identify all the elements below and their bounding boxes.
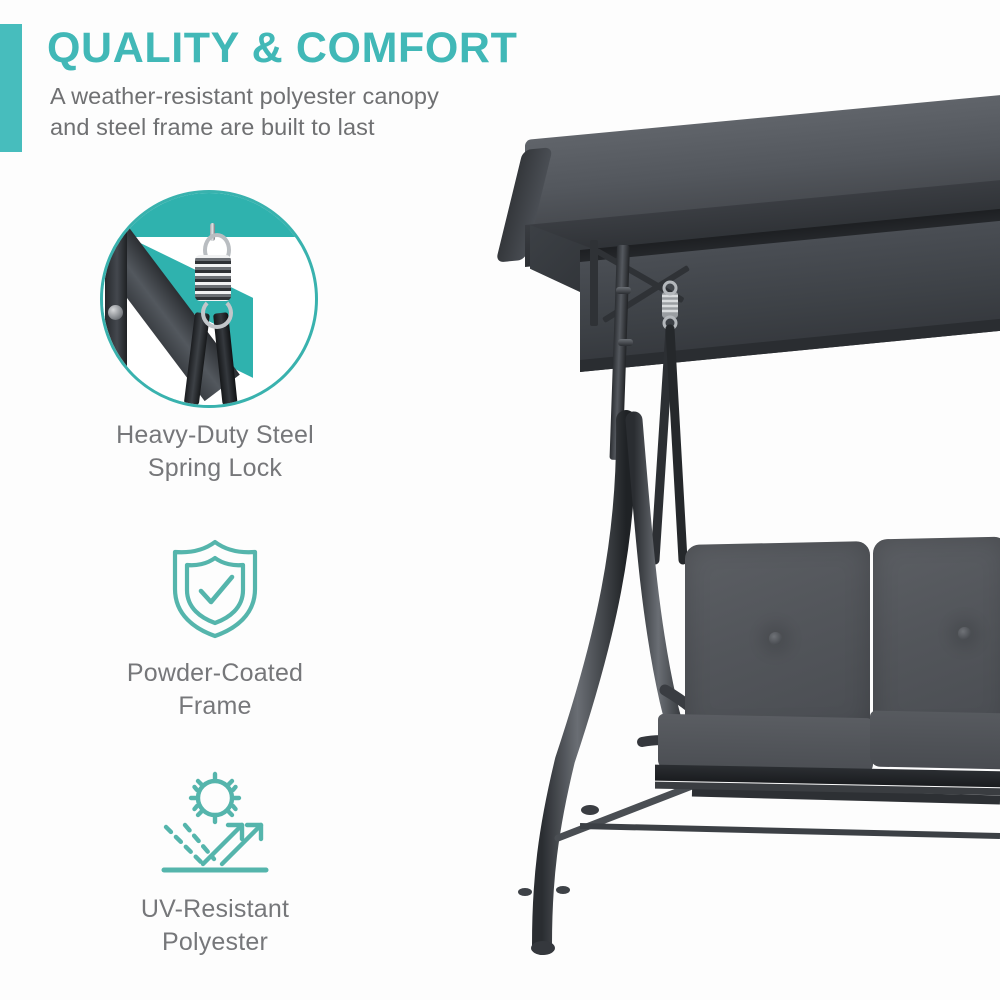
- uv-sun-reflect-icon: [156, 771, 274, 875]
- spring-lock-photo-icon: [100, 190, 330, 405]
- backrest-cushion-right: [873, 537, 1000, 736]
- front-curved-leg: [542, 420, 626, 945]
- product-feature-graphic: QUALITY & COMFORT A weather-resistant po…: [0, 0, 1000, 1000]
- feature-label-powder-coated-frame: Powder-Coated Frame: [0, 657, 430, 723]
- feature-label-uv-resistant: UV-Resistant Polyester: [0, 893, 430, 959]
- leg-bolt-right: [556, 886, 570, 894]
- frame-legs: [430, 0, 1000, 1000]
- cushion-tuft-button-left: [769, 632, 782, 645]
- seat-cushion-right: [870, 711, 1000, 770]
- cushion-tuft-button-right: [958, 627, 971, 640]
- leg-foot-cap: [531, 941, 555, 955]
- base-floor-bar-front: [580, 826, 1000, 836]
- feature-label-spring-lock: Heavy-Duty Steel Spring Lock: [0, 419, 430, 485]
- feature-item-spring-lock: Heavy-Duty Steel Spring Lock: [0, 190, 430, 485]
- product-photo: [430, 0, 1000, 1000]
- feature-list: Heavy-Duty Steel Spring Lock Powder-Coat…: [0, 190, 430, 959]
- feature-item-uv-resistant: UV-Resistant Polyester: [0, 771, 430, 959]
- feature-item-powder-coated-frame: Powder-Coated Frame: [0, 537, 430, 723]
- shield-check-icon: [162, 537, 268, 641]
- base-bracket: [581, 805, 599, 815]
- accent-bar: [0, 24, 22, 152]
- leg-bolt-left: [518, 888, 532, 896]
